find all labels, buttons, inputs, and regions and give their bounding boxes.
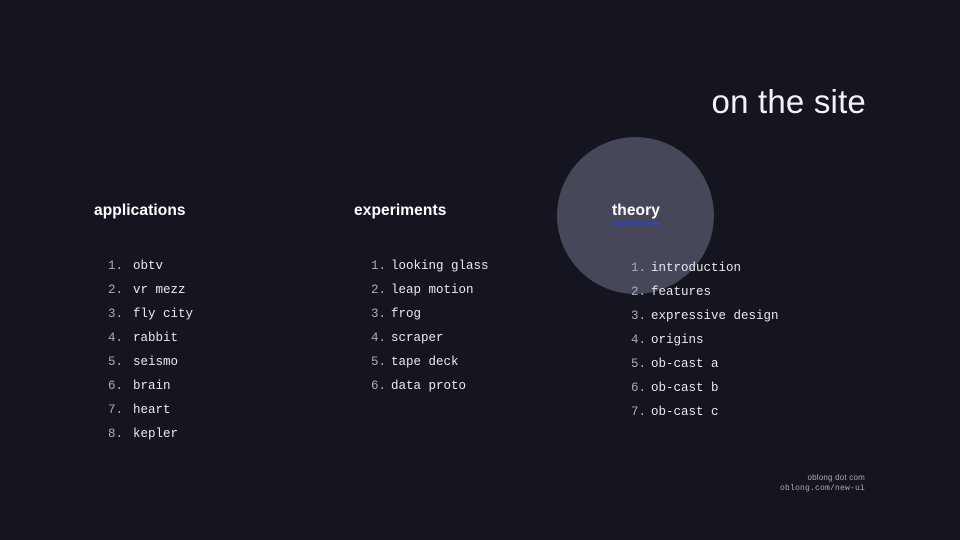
list-item-label: seismo	[133, 350, 178, 374]
list-item[interactable]: 6. brain	[105, 374, 193, 398]
list-item-number: 6.	[628, 376, 646, 400]
list-item-label: ob-cast c	[651, 400, 719, 424]
list-item-label: data proto	[391, 374, 466, 398]
column-applications: applications 1. obtv 2. vr mezz 3. fly c…	[94, 202, 193, 446]
list-item[interactable]: 8. kepler	[105, 422, 193, 446]
list-item-label: vr mezz	[133, 278, 186, 302]
list-applications: 1. obtv 2. vr mezz 3. fly city 4. rabbit…	[94, 254, 193, 446]
list-item[interactable]: 7. heart	[105, 398, 193, 422]
column-group: applications 1. obtv 2. vr mezz 3. fly c…	[0, 0, 960, 540]
list-item[interactable]: 5. tape deck	[368, 350, 489, 374]
list-item-number: 4.	[105, 326, 123, 350]
list-item[interactable]: 7. ob-cast c	[628, 400, 779, 424]
list-item[interactable]: 3. expressive design	[628, 304, 779, 328]
list-item[interactable]: 1. looking glass	[368, 254, 489, 278]
list-item-label: tape deck	[391, 350, 459, 374]
slide-canvas: on the site applications 1. obtv 2. vr m…	[0, 0, 960, 540]
list-item[interactable]: 3. fly city	[105, 302, 193, 326]
column-theory: theory 1. introduction 2. features 3. ex…	[612, 202, 779, 424]
column-heading-theory[interactable]: theory	[612, 202, 660, 225]
list-item[interactable]: 4. scraper	[368, 326, 489, 350]
list-item-label: brain	[133, 374, 171, 398]
list-item-label: rabbit	[133, 326, 178, 350]
list-item-label: leap motion	[391, 278, 474, 302]
list-item-label: fly city	[133, 302, 193, 326]
list-item-number: 4.	[628, 328, 646, 352]
list-item-label: introduction	[651, 256, 741, 280]
footer-url: oblong.com/new-ui	[780, 483, 865, 494]
list-item[interactable]: 2. vr mezz	[105, 278, 193, 302]
list-item-number: 4.	[368, 326, 386, 350]
list-theory: 1. introduction 2. features 3. expressiv…	[612, 256, 779, 424]
list-item[interactable]: 4. rabbit	[105, 326, 193, 350]
list-experiments: 1. looking glass 2. leap motion 3. frog …	[354, 254, 489, 398]
list-item-label: ob-cast a	[651, 352, 719, 376]
list-item-label: looking glass	[391, 254, 489, 278]
list-item-label: frog	[391, 302, 421, 326]
list-item[interactable]: 5. seismo	[105, 350, 193, 374]
list-item-number: 6.	[368, 374, 386, 398]
list-item[interactable]: 5. ob-cast a	[628, 352, 779, 376]
list-item[interactable]: 3. frog	[368, 302, 489, 326]
column-experiments: experiments 1. looking glass 2. leap mot…	[354, 202, 489, 398]
list-item-label: expressive design	[651, 304, 779, 328]
list-item-label: ob-cast b	[651, 376, 719, 400]
list-item[interactable]: 6. data proto	[368, 374, 489, 398]
list-item-number: 3.	[628, 304, 646, 328]
list-item-number: 1.	[368, 254, 386, 278]
list-item-label: kepler	[133, 422, 178, 446]
list-item-number: 2.	[628, 280, 646, 304]
list-item-number: 7.	[105, 398, 123, 422]
column-heading-experiments: experiments	[354, 202, 446, 223]
list-item-number: 1.	[628, 256, 646, 280]
list-item-number: 2.	[368, 278, 386, 302]
footer: oblong dot com oblong.com/new-ui	[780, 472, 865, 494]
list-item-number: 3.	[105, 302, 123, 326]
list-item-number: 5.	[105, 350, 123, 374]
list-item[interactable]: 4. origins	[628, 328, 779, 352]
list-item-number: 2.	[105, 278, 123, 302]
list-item[interactable]: 2. features	[628, 280, 779, 304]
list-item-label: origins	[651, 328, 704, 352]
list-item-number: 7.	[628, 400, 646, 424]
list-item-number: 5.	[628, 352, 646, 376]
list-item-number: 6.	[105, 374, 123, 398]
page-title: on the site	[712, 84, 866, 120]
list-item-label: features	[651, 280, 711, 304]
footer-brand: oblong dot com	[780, 472, 865, 483]
list-item-number: 5.	[368, 350, 386, 374]
list-item[interactable]: 1. introduction	[628, 256, 779, 280]
list-item-label: scraper	[391, 326, 444, 350]
list-item-number: 8.	[105, 422, 123, 446]
list-item[interactable]: 6. ob-cast b	[628, 376, 779, 400]
list-item-number: 1.	[105, 254, 123, 278]
list-item[interactable]: 2. leap motion	[368, 278, 489, 302]
column-heading-applications: applications	[94, 202, 186, 223]
list-item-label: heart	[133, 398, 171, 422]
list-item-number: 3.	[368, 302, 386, 326]
list-item[interactable]: 1. obtv	[105, 254, 193, 278]
list-item-label: obtv	[133, 254, 163, 278]
